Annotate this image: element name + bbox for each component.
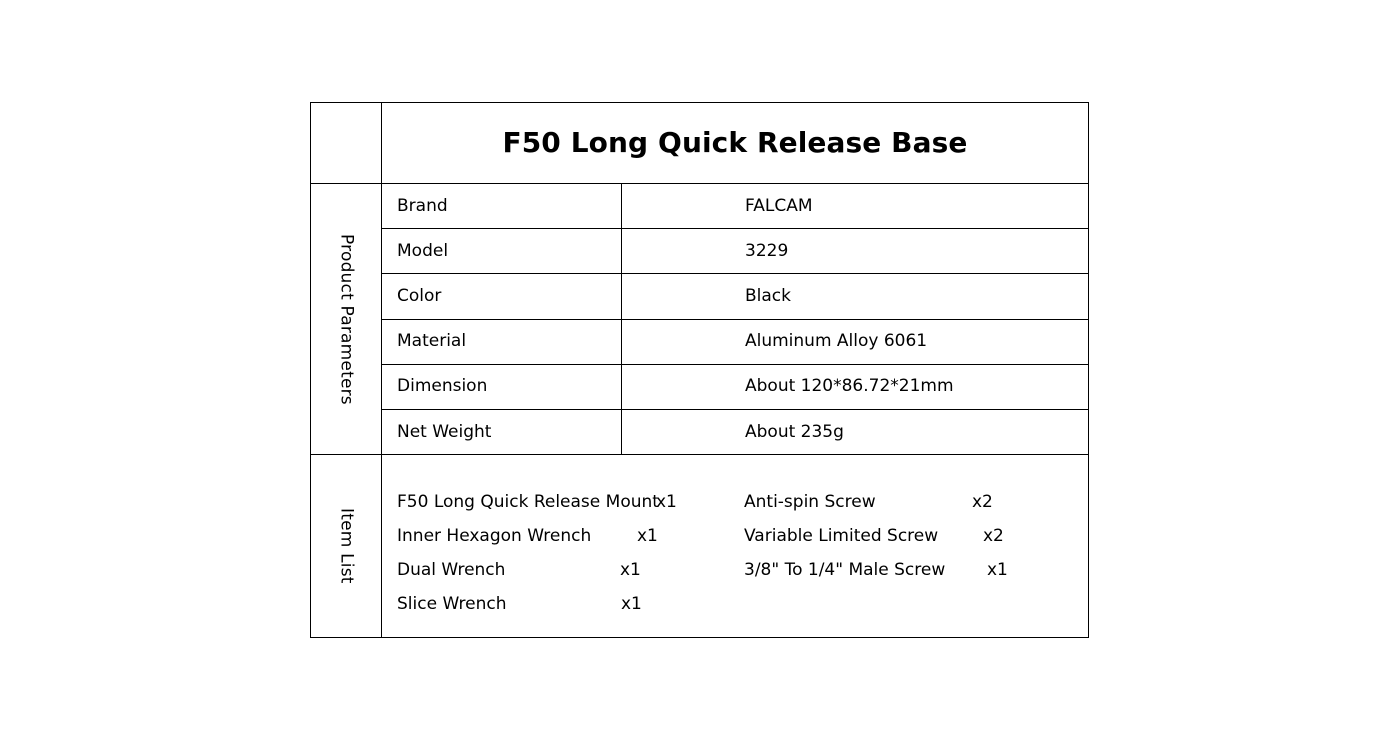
item-name: Inner Hexagon Wrench xyxy=(397,519,591,553)
list-item: Variable Limited Screw x2 xyxy=(744,519,1074,553)
param-value-brand: FALCAM xyxy=(622,184,1088,228)
item-list-label-cell: Item List xyxy=(311,455,382,637)
param-value-net-weight: About 235g xyxy=(622,410,1088,454)
item-qty: x2 xyxy=(972,485,993,519)
item-qty: x1 xyxy=(987,553,1008,587)
item-list-left-column: F50 Long Quick Release Mount x1 Inner He… xyxy=(397,485,717,621)
list-item: Anti-spin Screw x2 xyxy=(744,485,1074,519)
corner-cell-empty xyxy=(311,103,382,183)
title-row: F50 Long Quick Release Base xyxy=(311,103,1088,184)
product-parameters-label-cell: Product Parameters xyxy=(311,184,382,454)
param-value-dimension: About 120*86.72*21mm xyxy=(622,365,1088,409)
param-value-material: Aluminum Alloy 6061 xyxy=(622,320,1088,364)
page-title: F50 Long Quick Release Base xyxy=(503,129,968,157)
table-row: Material Aluminum Alloy 6061 xyxy=(382,320,1088,365)
param-label-model: Model xyxy=(382,229,622,273)
item-name: 3/8" To 1/4" Male Screw xyxy=(744,553,945,587)
item-qty: x1 xyxy=(621,587,642,621)
item-name: Dual Wrench xyxy=(397,553,505,587)
item-qty: x1 xyxy=(620,553,641,587)
product-parameters-label: Product Parameters xyxy=(338,234,355,405)
list-item: 3/8" To 1/4" Male Screw x1 xyxy=(744,553,1074,587)
list-item: Inner Hexagon Wrench x1 xyxy=(397,519,717,553)
product-parameters-section: Product Parameters Brand FALCAM Model 32… xyxy=(311,184,1088,455)
item-qty: x2 xyxy=(983,519,1004,553)
item-list-content: F50 Long Quick Release Mount x1 Inner He… xyxy=(382,455,1088,637)
item-list-label: Item List xyxy=(338,508,355,584)
table-row: Model 3229 xyxy=(382,229,1088,274)
table-row: Color Black xyxy=(382,274,1088,319)
table-row: Net Weight About 235g xyxy=(382,410,1088,454)
param-label-brand: Brand xyxy=(382,184,622,228)
param-label-material: Material xyxy=(382,320,622,364)
item-name: Anti-spin Screw xyxy=(744,485,876,519)
product-spec-table: F50 Long Quick Release Base Product Para… xyxy=(310,102,1089,638)
param-value-color: Black xyxy=(622,274,1088,318)
item-qty: x1 xyxy=(656,485,677,519)
param-label-color: Color xyxy=(382,274,622,318)
param-label-net-weight: Net Weight xyxy=(382,410,622,454)
item-name: Slice Wrench xyxy=(397,587,506,621)
item-name: F50 Long Quick Release Mount xyxy=(397,485,659,519)
param-value-model: 3229 xyxy=(622,229,1088,273)
list-item: Slice Wrench x1 xyxy=(397,587,717,621)
table-row: Dimension About 120*86.72*21mm xyxy=(382,365,1088,410)
product-parameters-rows: Brand FALCAM Model 3229 Color Black Mate… xyxy=(382,184,1088,454)
item-qty: x1 xyxy=(637,519,658,553)
list-item: F50 Long Quick Release Mount x1 xyxy=(397,485,717,519)
table-row: Brand FALCAM xyxy=(382,184,1088,229)
list-item: Dual Wrench x1 xyxy=(397,553,717,587)
item-name: Variable Limited Screw xyxy=(744,519,938,553)
param-label-dimension: Dimension xyxy=(382,365,622,409)
product-title-cell: F50 Long Quick Release Base xyxy=(382,103,1088,183)
item-list-section: Item List F50 Long Quick Release Mount x… xyxy=(311,455,1088,637)
item-list-right-column: Anti-spin Screw x2 Variable Limited Scre… xyxy=(744,485,1074,587)
